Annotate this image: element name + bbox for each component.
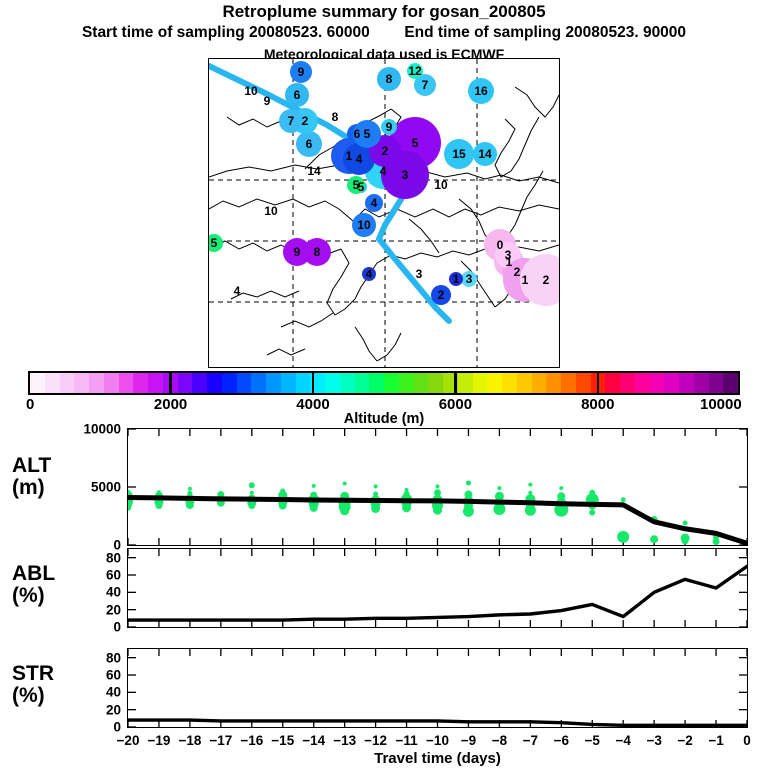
alt-scatter-point: [186, 501, 194, 509]
abl-y-tick-label: 80: [61, 550, 121, 565]
abl-label-line1: ABL: [12, 563, 55, 585]
colorbar-swatch: [532, 373, 547, 393]
x-tick-label: −11: [395, 733, 417, 748]
plume-marker-day-label: 2: [543, 274, 550, 286]
colorbar-swatch: [723, 373, 738, 393]
plume-marker-day-label: 6: [294, 89, 301, 101]
x-tick-label: −6: [554, 733, 569, 748]
alt-scatter-point: [433, 506, 442, 515]
plume-marker-day-label: 14: [478, 148, 491, 160]
alt-scatter-point: [621, 497, 626, 502]
plume-marker-day-label: 5: [364, 128, 371, 140]
x-tick-label: −3: [646, 733, 661, 748]
x-tick-label: −9: [461, 733, 476, 748]
colorbar-swatch: [192, 373, 207, 393]
colorbar-swatch: [576, 373, 591, 393]
alt-axis-label: ALT (m): [12, 455, 51, 499]
retroplume-map[interactable]: 0123123124498453142659627568791415161255…: [208, 58, 560, 368]
plume-marker-day-label: 2: [514, 266, 521, 278]
plume-marker-day-label: 5: [211, 237, 218, 249]
alt-plot: [128, 429, 747, 545]
alt-y-tick-label: 5000: [61, 480, 121, 495]
colorbar-swatch: [237, 373, 252, 393]
x-tick-label: −15: [271, 733, 294, 748]
abl-y-tick-label: 40: [61, 585, 121, 600]
plume-marker-day-label: 1: [453, 273, 460, 285]
abl-label-line2: (%): [12, 585, 55, 607]
colorbar-swatch: [340, 373, 355, 393]
alt-scatter-point: [279, 502, 287, 510]
plume-marker-day-label: 6: [354, 128, 361, 140]
alt-scatter-point: [559, 486, 563, 490]
alt-scatter-point: [650, 535, 658, 543]
alt-label-line1: ALT: [12, 455, 51, 477]
colorbar-swatch: [89, 373, 104, 393]
map-coastlines: [209, 59, 559, 367]
plume-marker-day-label: 10: [357, 219, 370, 231]
x-tick-label: −17: [209, 733, 232, 748]
alt-scatter-point: [312, 484, 316, 488]
x-tick-label: −13: [333, 733, 356, 748]
str-plot-panel[interactable]: [127, 648, 748, 728]
colorbar-swatch: [502, 373, 517, 393]
colorbar-swatch: [148, 373, 163, 393]
abl-y-tick-label: 60: [61, 568, 121, 583]
colorbar-swatch: [650, 373, 665, 393]
alt-scatter-point: [374, 484, 378, 488]
start-time-label: Start time of sampling 20080523. 60000: [82, 24, 370, 42]
x-tick-label: −18: [178, 733, 201, 748]
alt-scatter-point: [497, 486, 501, 490]
alt-scatter-point: [463, 506, 474, 517]
alt-y-tick-label: 10000: [61, 422, 121, 437]
x-axis-title: Travel time (days): [127, 750, 748, 767]
plume-marker-day-label: 12: [408, 65, 421, 77]
x-tick-label: −19: [147, 733, 170, 748]
abl-y-tick-label: 0: [61, 620, 121, 635]
abl-trend-line: [128, 566, 747, 620]
colorbar-swatch: [251, 373, 266, 393]
colorbar-swatch: [178, 373, 193, 393]
x-tick-label: −16: [240, 733, 263, 748]
colorbar-swatch: [620, 373, 635, 393]
colorbar-swatch: [119, 373, 134, 393]
plume-marker-day-label: 8: [332, 111, 339, 123]
page-title: Retroplume summary for gosan_200805: [0, 2, 768, 22]
colorbar-swatch: [104, 373, 119, 393]
plume-marker-day-label: 3: [466, 273, 473, 285]
colorbar-swatch: [635, 373, 650, 393]
str-y-tick-label: 80: [61, 650, 121, 665]
colorbar-swatch: [709, 373, 724, 393]
colorbar-tick-label: 4000: [296, 396, 329, 413]
colorbar-tick-label: 6000: [439, 396, 472, 413]
plume-marker-day-label: 4: [380, 165, 387, 177]
alt-scatter-point: [493, 503, 505, 515]
alt-scatter-point: [249, 482, 255, 488]
x-tick-label: −12: [364, 733, 387, 748]
x-tick-label: −10: [426, 733, 449, 748]
str-y-tick-label: 20: [61, 702, 121, 717]
colorbar-swatch: [487, 373, 502, 393]
plume-marker-day-label: 14: [307, 165, 320, 177]
plume-marker-day-label: 10: [264, 205, 277, 217]
alt-label-line2: (m): [12, 477, 51, 499]
x-tick-label: 0: [743, 733, 751, 748]
plume-marker-day-label: 9: [264, 95, 271, 107]
colorbar-tick-label: 10000: [700, 396, 742, 413]
alt-scatter-point: [589, 510, 595, 516]
alt-scatter-point: [682, 537, 689, 544]
plume-marker-day-label: 9: [294, 246, 301, 258]
plume-marker-day-label: 8: [386, 73, 393, 85]
colorbar-swatch: [414, 373, 429, 393]
x-tick-label: −8: [492, 733, 507, 748]
plume-marker-day-label: 10: [244, 85, 257, 97]
alt-scatter-point: [528, 483, 532, 487]
plume-marker-day-label: 5: [412, 137, 419, 149]
str-label-line1: STR: [12, 663, 54, 685]
plume-marker-day-label: 10: [434, 179, 447, 191]
alt-scatter-point: [188, 487, 192, 491]
colorbar-swatch: [30, 373, 45, 393]
x-tick-label: −14: [302, 733, 325, 748]
str-label-line2: (%): [12, 685, 54, 707]
plume-marker-day-label: 1: [346, 150, 353, 162]
colorbar-swatch: [428, 373, 443, 393]
str-y-tick-label: 0: [61, 720, 121, 735]
plume-marker-day-label: 1: [522, 274, 529, 286]
alt-scatter-point: [436, 484, 440, 488]
alt-scatter-point: [402, 503, 411, 512]
plume-marker-day-label: 15: [452, 148, 465, 160]
colorbar-divider: [312, 371, 315, 395]
plume-marker-day-label: 8: [314, 246, 321, 258]
plume-marker-day-label: 4: [234, 285, 241, 297]
colorbar-swatch: [679, 373, 694, 393]
plume-marker-day-label: 2: [302, 115, 309, 127]
plume-marker-day-label: 5: [353, 179, 360, 191]
abl-y-tick-label: 20: [61, 602, 121, 617]
colorbar-tick-label: 2000: [154, 396, 187, 413]
colorbar-swatch: [369, 373, 384, 393]
colorbar-tick-label: 8000: [581, 396, 614, 413]
abl-axis-label: ABL (%): [12, 563, 55, 607]
colorbar-swatch: [296, 373, 311, 393]
str-plot: [128, 649, 747, 727]
colorbar-swatch: [384, 373, 399, 393]
colorbar-swatch: [325, 373, 340, 393]
colorbar-swatch: [60, 373, 75, 393]
colorbar-swatch: [664, 373, 679, 393]
str-axis-label: STR (%): [12, 663, 54, 707]
x-tick-label: −1: [708, 733, 723, 748]
colorbar-swatch: [355, 373, 370, 393]
colorbar-swatch: [517, 373, 532, 393]
alt-scatter-point: [343, 482, 347, 486]
plume-marker-day-label: 3: [402, 169, 409, 181]
alt-scatter-point: [525, 505, 536, 516]
colorbar-swatch: [694, 373, 709, 393]
plume-marker-day-label: 7: [288, 115, 295, 127]
colorbar-swatch: [222, 373, 237, 393]
str-y-tick-label: 40: [61, 685, 121, 700]
alt-scatter-point: [340, 506, 349, 515]
colorbar-swatch: [74, 373, 89, 393]
end-time-label: End time of sampling 20080523. 90000: [404, 24, 686, 42]
colorbar-swatch: [399, 373, 414, 393]
plume-marker-day-label: 4: [366, 268, 373, 280]
alt-scatter-point: [466, 480, 471, 485]
plume-marker-day-label: 4: [371, 197, 378, 209]
colorbar-tick-label: 0: [26, 396, 34, 413]
alt-scatter-point: [310, 504, 318, 512]
alt-scatter-point: [250, 491, 254, 495]
plume-marker-day-label: 6: [306, 138, 313, 150]
x-tick-label: −4: [615, 733, 630, 748]
alt-scatter-point: [683, 520, 688, 525]
abl-plot-panel[interactable]: [127, 548, 748, 628]
x-tick-label: −2: [677, 733, 692, 748]
colorbar-swatch: [605, 373, 620, 393]
x-tick-label: −20: [117, 733, 140, 748]
colorbar-swatch: [45, 373, 60, 393]
str-y-tick-label: 60: [61, 668, 121, 683]
alt-scatter-point: [713, 538, 720, 545]
colorbar-swatch: [133, 373, 148, 393]
plume-marker-day-label: 3: [416, 268, 423, 280]
plume-marker-day-label: 9: [386, 121, 393, 133]
sampling-time-line: Start time of sampling 20080523. 60000 E…: [0, 24, 768, 42]
plume-marker-day-label: 3: [505, 249, 512, 261]
colorbar-divider: [597, 371, 600, 395]
colorbar-swatch: [281, 373, 296, 393]
plume-marker-day-label: 4: [356, 153, 363, 165]
alt-scatter-point: [617, 531, 629, 543]
alt-scatter-point: [371, 504, 380, 513]
abl-plot: [128, 549, 747, 627]
plume-marker-day-label: 2: [438, 289, 445, 301]
colorbar-divider: [169, 371, 172, 395]
plume-marker-day-label: 0: [497, 239, 504, 251]
plume-marker-day-label: 16: [474, 85, 487, 97]
colorbar-swatch: [561, 373, 576, 393]
alt-scatter-point: [155, 502, 162, 509]
colorbar-swatch: [207, 373, 222, 393]
plume-marker-day-label: 9: [298, 66, 305, 78]
colorbar-swatch: [473, 373, 488, 393]
plume-marker-day-label: 2: [382, 145, 389, 157]
x-tick-label: −7: [523, 733, 538, 748]
plume-marker-day-label: 7: [422, 79, 429, 91]
altitude-colorbar: [28, 371, 740, 395]
colorbar-swatch: [546, 373, 561, 393]
colorbar-swatch: [458, 373, 473, 393]
x-tick-label: −5: [585, 733, 600, 748]
colorbar-swatch: [266, 373, 281, 393]
colorbar-divider: [454, 371, 457, 395]
alt-plot-panel[interactable]: [127, 428, 748, 546]
alt-scatter-point: [248, 502, 255, 509]
